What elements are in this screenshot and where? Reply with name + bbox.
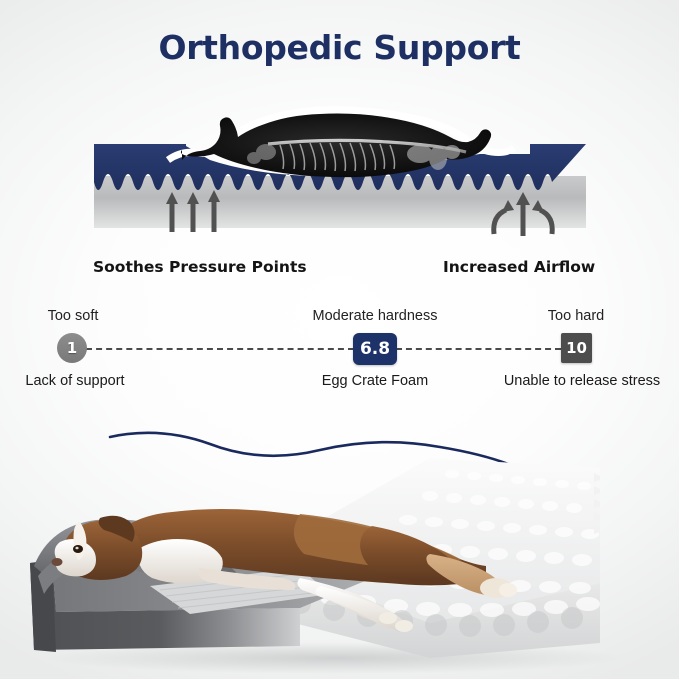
scale-label-moderate-hardness: Moderate hardness [305, 308, 445, 324]
scale-dashed-line-left [86, 348, 354, 350]
scale-label-egg-crate-foam: Egg Crate Foam [310, 373, 440, 389]
scale-dashed-line-right [396, 348, 561, 350]
scale-badge-moderate: 6.8 [353, 333, 397, 365]
caption-increased-airflow: Increased Airflow [443, 258, 595, 276]
scale-badge-soft: 1 [57, 333, 87, 363]
pressure-arrows [166, 190, 220, 232]
infographic-page: Orthopedic Support [0, 0, 679, 679]
scale-label-too-hard: Too hard [540, 308, 612, 324]
scale-badge-hard: 10 [561, 333, 592, 363]
scale-label-unable-to-release-stress: Unable to release stress [492, 373, 672, 389]
page-title: Orthopedic Support [0, 28, 679, 67]
scale-label-lack-of-support: Lack of support [5, 373, 145, 389]
scale-label-too-soft: Too soft [42, 308, 104, 324]
caption-soothes-pressure-points: Soothes Pressure Points [93, 258, 307, 276]
foam-cross-section-diagram [90, 100, 590, 250]
product-photo [0, 408, 679, 679]
hardness-scale: Too soft Moderate hardness Too hard 1 6.… [0, 305, 679, 400]
